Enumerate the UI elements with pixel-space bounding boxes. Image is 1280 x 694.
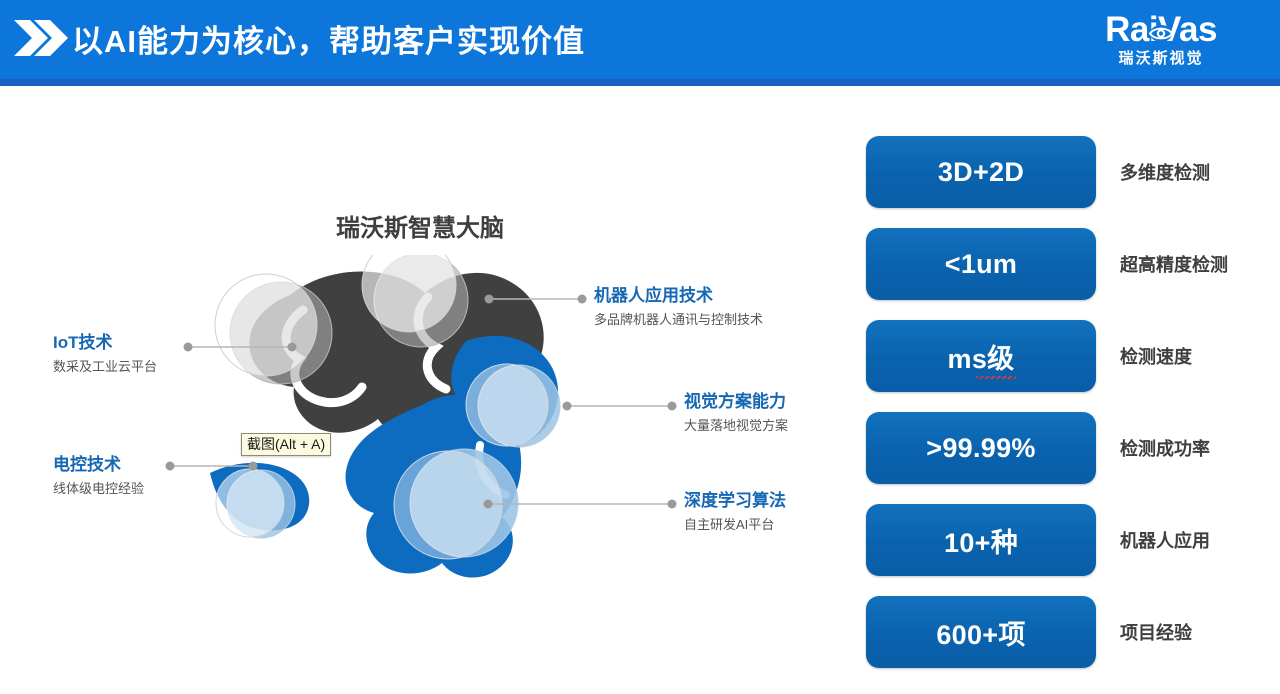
callout-deep: 深度学习算法 自主研发AI平台 [684,492,786,532]
callout-robot-title: 机器人应用技术 [594,287,763,306]
slide-root: 以AI能力为核心，帮助客户实现价值 RaiVas 瑞沃斯视觉 瑞沃斯智慧大脑 [0,0,1280,694]
metric-value: >99.99% [926,433,1035,464]
metric-pill-ms[interactable]: ms级 [866,320,1096,392]
brain-illustration [180,255,650,595]
callout-iot: IoT技术 数采及工业云平台 [53,334,157,374]
metric-label: 多维度检测 [1120,136,1210,208]
logo-wordmark: RaiVas [1105,12,1217,47]
callout-vision-sub: 大量落地视觉方案 [684,419,788,433]
metric-card-row[interactable]: <1um 超高精度检测 [866,228,1266,320]
callout-robot-sub: 多品牌机器人通讯与控制技术 [594,313,763,327]
callout-deep-sub: 自主研发AI平台 [684,518,786,532]
metric-label: 超高精度检测 [1120,228,1228,300]
metric-card-row[interactable]: ms级 检测速度 [866,320,1266,412]
eye-icon [1148,17,1174,43]
callout-iot-title: IoT技术 [53,334,157,353]
callout-econtrol-title: 电控技术 [53,456,144,475]
metric-label: 机器人应用 [1120,504,1210,576]
metric-card-row[interactable]: 10+种 机器人应用 [866,504,1266,596]
callout-deep-title: 深度学习算法 [684,492,786,511]
company-logo: RaiVas 瑞沃斯视觉 [1076,8,1246,70]
screenshot-shortcut-tooltip: 截图(Alt + A) [241,433,331,456]
double-chevron-right-icon [14,14,68,62]
metric-card-row[interactable]: 3D+2D 多维度检测 [866,136,1266,228]
metric-pill-success-rate[interactable]: >99.99% [866,412,1096,484]
metric-value: ms级 [948,337,1015,376]
metric-pill-robot-types[interactable]: 10+种 [866,504,1096,576]
metric-pill-3d2d[interactable]: 3D+2D [866,136,1096,208]
metric-pill-1um[interactable]: <1um [866,228,1096,300]
metric-value: 3D+2D [938,157,1024,188]
callout-robot: 机器人应用技术 多品牌机器人通讯与控制技术 [594,287,763,327]
callout-econtrol-sub: 线体级电控经验 [53,482,144,496]
metrics-card-list: 3D+2D 多维度检测 <1um 超高精度检测 ms级 检测速度 >99.99%… [866,136,1266,688]
callout-vision: 视觉方案能力 大量落地视觉方案 [684,393,788,433]
metric-label: 检测速度 [1120,320,1192,392]
metric-label: 项目经验 [1120,596,1192,668]
callout-iot-sub: 数采及工业云平台 [53,360,157,374]
metric-label: 检测成功率 [1120,412,1210,484]
metric-value: 10+种 [944,521,1018,560]
metric-value: <1um [945,249,1017,280]
page-title: 以AI能力为核心，帮助客户实现价值 [72,14,585,62]
callout-vision-title: 视觉方案能力 [684,393,788,412]
metric-pill-projects[interactable]: 600+项 [866,596,1096,668]
callout-econtrol: 电控技术 线体级电控经验 [53,456,144,496]
brain-diagram-title: 瑞沃斯智慧大脑 [336,208,504,243]
metric-value: 600+项 [936,613,1025,652]
metric-card-row[interactable]: 600+项 项目经验 [866,596,1266,688]
logo-subtext: 瑞沃斯视觉 [1118,51,1203,66]
header-underline [0,79,1280,86]
metric-card-row[interactable]: >99.99% 检测成功率 [866,412,1266,504]
